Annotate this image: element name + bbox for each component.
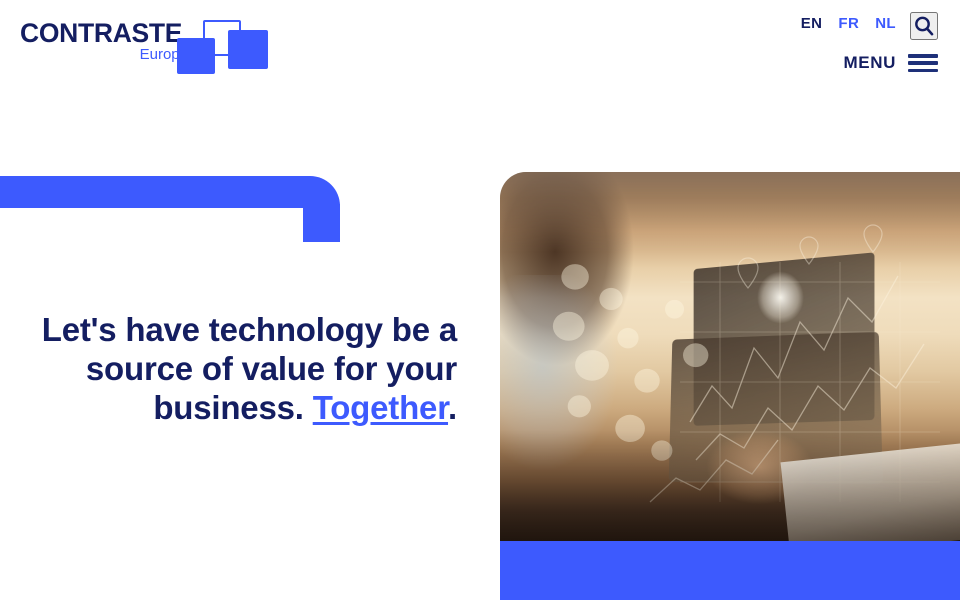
decorative-bracket-shape xyxy=(0,176,340,242)
logo-wordmark: CONTRASTE xyxy=(20,18,182,48)
decorative-bracket-leg xyxy=(303,204,340,242)
hero-section: Let's have technology be a source of val… xyxy=(0,100,960,600)
logo-squares-icon xyxy=(175,20,265,72)
hero-heading: Let's have technology be a source of val… xyxy=(0,310,457,427)
search-icon xyxy=(913,15,935,37)
language-link-en[interactable]: EN xyxy=(801,14,823,34)
hero-heading-link-together[interactable]: Together xyxy=(313,389,448,426)
language-switcher: EN FR NL xyxy=(801,14,896,34)
hero-heading-line1: Let's have technology be a xyxy=(42,311,457,348)
hero-accent-band xyxy=(500,541,960,600)
hamburger-icon xyxy=(908,52,938,74)
site-header: CONTRASTE Europe EN FR NL xyxy=(0,0,960,100)
decorative-bracket-bar xyxy=(0,176,340,208)
menu-toggle[interactable]: MENU xyxy=(844,52,938,74)
hero-heading-line2: source of value for your xyxy=(86,350,457,387)
menu-label: MENU xyxy=(844,53,896,73)
hero-image xyxy=(500,172,960,541)
language-link-nl[interactable]: NL xyxy=(875,14,896,34)
header-utility-nav: EN FR NL MENU xyxy=(642,12,942,82)
logo-square-left-icon xyxy=(177,38,215,74)
site-logo[interactable]: CONTRASTE Europe xyxy=(20,18,265,70)
hero-copy: Let's have technology be a source of val… xyxy=(0,310,480,427)
logo-square-right-icon xyxy=(228,30,268,69)
logo-text: CONTRASTE Europe xyxy=(20,18,188,70)
search-button[interactable] xyxy=(910,12,938,40)
hero-image-vignette xyxy=(500,172,960,541)
hero-heading-suffix: . xyxy=(448,389,457,426)
page-root: CONTRASTE Europe EN FR NL xyxy=(0,0,960,600)
hero-heading-line3-prefix: business. xyxy=(153,389,312,426)
language-link-fr[interactable]: FR xyxy=(838,14,859,34)
